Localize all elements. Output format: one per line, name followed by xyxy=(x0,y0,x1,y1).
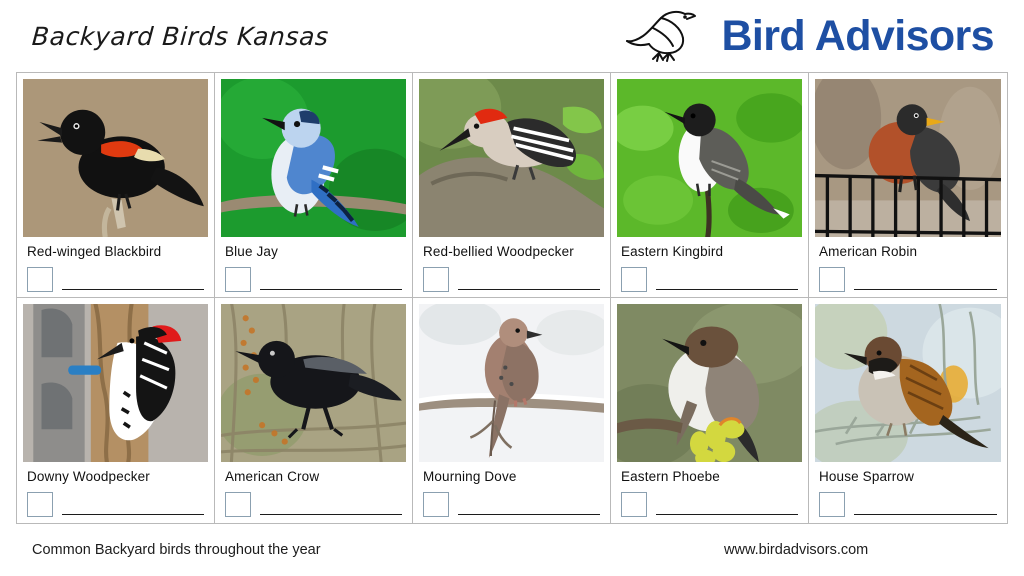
cell-body: American Crow xyxy=(215,462,412,523)
bird-name: Mourning Dove xyxy=(423,469,602,485)
entry-row xyxy=(225,267,404,292)
entry-row xyxy=(819,492,999,517)
entry-row xyxy=(621,492,800,517)
bird-cell: American Robin xyxy=(809,73,1007,298)
bird-name: House Sparrow xyxy=(819,469,999,485)
bird-cell: House Sparrow xyxy=(809,298,1007,523)
bird-name: Blue Jay xyxy=(225,244,404,260)
entry-row xyxy=(27,492,206,517)
bird-cell: Blue Jay xyxy=(215,73,413,298)
bird-cell: American Crow xyxy=(215,298,413,523)
seen-checkbox[interactable] xyxy=(423,267,449,292)
bird-cell: Downy Woodpecker xyxy=(17,298,215,523)
entry-row xyxy=(27,267,206,292)
bird-grid: Red-winged Blackbird xyxy=(16,72,1008,524)
notes-line[interactable] xyxy=(62,289,204,290)
notes-line[interactable] xyxy=(854,514,997,515)
bird-name: Red-winged Blackbird xyxy=(27,244,206,260)
bird-photo-red-winged-blackbird xyxy=(23,79,208,237)
entry-row xyxy=(621,267,800,292)
notes-line[interactable] xyxy=(656,514,798,515)
seen-checkbox[interactable] xyxy=(27,267,53,292)
footer-caption: Common Backyard birds throughout the yea… xyxy=(32,542,321,558)
bird-name: American Crow xyxy=(225,469,404,485)
entry-row xyxy=(423,267,602,292)
cell-body: Red-winged Blackbird xyxy=(17,237,214,297)
footer: Common Backyard birds throughout the yea… xyxy=(0,524,1024,576)
notes-line[interactable] xyxy=(62,514,204,515)
bird-photo-american-crow xyxy=(221,304,406,462)
notes-line[interactable] xyxy=(260,514,402,515)
bird-photo-eastern-kingbird xyxy=(617,79,802,237)
bird-name: American Robin xyxy=(819,244,999,260)
bird-checklist-sheet: Backyard Birds Kansas Bird Advisors xyxy=(0,0,1024,576)
brand-logo[interactable]: Bird Advisors xyxy=(623,8,994,64)
bird-cell: Eastern Phoebe xyxy=(611,298,809,523)
notes-line[interactable] xyxy=(458,289,600,290)
cell-body: Red-bellied Woodpecker xyxy=(413,237,610,297)
seen-checkbox[interactable] xyxy=(621,267,647,292)
seen-checkbox[interactable] xyxy=(819,492,845,517)
bird-cell: Eastern Kingbird xyxy=(611,73,809,298)
cell-body: Mourning Dove xyxy=(413,462,610,523)
cell-body: American Robin xyxy=(809,237,1007,297)
bird-name: Downy Woodpecker xyxy=(27,469,206,485)
bird-name: Eastern Phoebe xyxy=(621,469,800,485)
cell-body: Downy Woodpecker xyxy=(17,462,214,523)
cell-body: Eastern Phoebe xyxy=(611,462,808,523)
bird-line-art-icon xyxy=(623,8,709,64)
cell-body: House Sparrow xyxy=(809,462,1007,523)
bird-cell: Red-winged Blackbird xyxy=(17,73,215,298)
entry-row xyxy=(819,267,999,292)
seen-checkbox[interactable] xyxy=(225,492,251,517)
bird-photo-eastern-phoebe xyxy=(617,304,802,462)
bird-photo-american-robin xyxy=(815,79,1001,237)
bird-name: Red-bellied Woodpecker xyxy=(423,244,602,260)
notes-line[interactable] xyxy=(458,514,600,515)
entry-row xyxy=(225,492,404,517)
notes-line[interactable] xyxy=(656,289,798,290)
bird-photo-house-sparrow xyxy=(815,304,1001,462)
page-title: Backyard Birds Kansas xyxy=(31,22,330,51)
bird-name: Eastern Kingbird xyxy=(621,244,800,260)
header: Backyard Birds Kansas Bird Advisors xyxy=(0,0,1024,72)
bird-photo-downy-woodpecker xyxy=(23,304,208,462)
cell-body: Blue Jay xyxy=(215,237,412,297)
seen-checkbox[interactable] xyxy=(225,267,251,292)
footer-website[interactable]: www.birdadvisors.com xyxy=(724,542,868,558)
bird-cell: Red-bellied Woodpecker xyxy=(413,73,611,298)
seen-checkbox[interactable] xyxy=(423,492,449,517)
bird-cell: Mourning Dove xyxy=(413,298,611,523)
bird-photo-blue-jay xyxy=(221,79,406,237)
seen-checkbox[interactable] xyxy=(621,492,647,517)
notes-line[interactable] xyxy=(854,289,997,290)
seen-checkbox[interactable] xyxy=(819,267,845,292)
entry-row xyxy=(423,492,602,517)
cell-body: Eastern Kingbird xyxy=(611,237,808,297)
bird-photo-mourning-dove xyxy=(419,304,604,462)
bird-photo-red-bellied-woodpecker xyxy=(419,79,604,237)
seen-checkbox[interactable] xyxy=(27,492,53,517)
brand-name: Bird Advisors xyxy=(721,15,994,58)
notes-line[interactable] xyxy=(260,289,402,290)
